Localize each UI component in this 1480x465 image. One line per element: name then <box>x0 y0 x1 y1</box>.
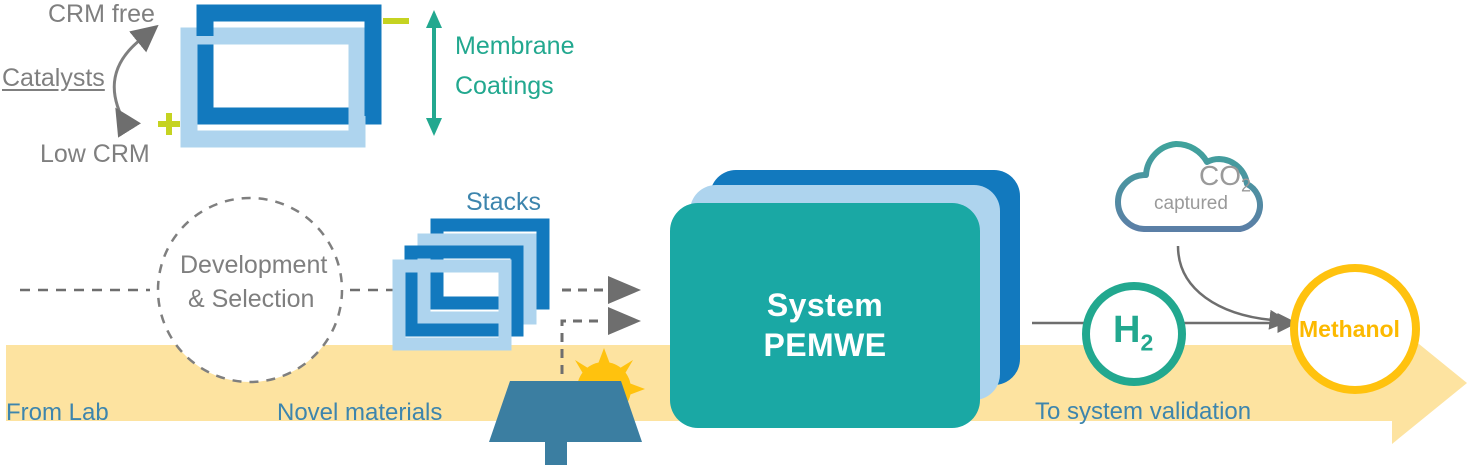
solar-panel-icon <box>489 381 642 465</box>
label-membrane-coatings-line2: Coatings <box>455 72 554 100</box>
label-to-system-validation: To system validation <box>1035 399 1251 426</box>
catalysts-double-arrow <box>114 40 140 128</box>
hydrogen-subscript: 2 <box>1140 330 1153 356</box>
label-pemwe: PEMWE <box>670 325 980 367</box>
stack-frames <box>399 225 543 344</box>
label-stacks: Stacks <box>466 188 541 216</box>
stacks-to-system-arrow <box>562 276 641 304</box>
label-selection: & Selection <box>188 285 314 313</box>
label-system: System <box>670 285 980 327</box>
diagram-canvas: CRM free Catalysts Low CRM Membrane Coat… <box>0 0 1480 465</box>
minus-sign-icon <box>383 18 409 24</box>
label-low-crm: Low CRM <box>40 140 150 168</box>
co2-symbol: CO <box>1199 160 1241 191</box>
label-from-lab: From Lab <box>6 400 109 427</box>
membrane-coatings-arrow <box>426 10 442 136</box>
plus-sign-icon <box>158 113 180 135</box>
label-novel-materials: Novel materials <box>277 400 442 427</box>
label-co2-captured: captured <box>1154 193 1228 215</box>
label-hydrogen: H2 <box>1113 309 1153 357</box>
label-methanol: Methanol <box>1299 316 1400 343</box>
label-co2: CO2 <box>1199 160 1251 197</box>
co2-to-methanol-arrow <box>1178 246 1272 320</box>
hydrogen-symbol: H <box>1113 309 1140 351</box>
label-catalysts: Catalysts <box>2 64 105 92</box>
co2-subscript: 2 <box>1241 176 1251 196</box>
label-crm-free: CRM free <box>48 0 155 28</box>
label-development: Development <box>180 251 327 279</box>
diagram-graphics <box>0 0 1480 465</box>
label-membrane-coatings-line1: Membrane <box>455 32 575 60</box>
